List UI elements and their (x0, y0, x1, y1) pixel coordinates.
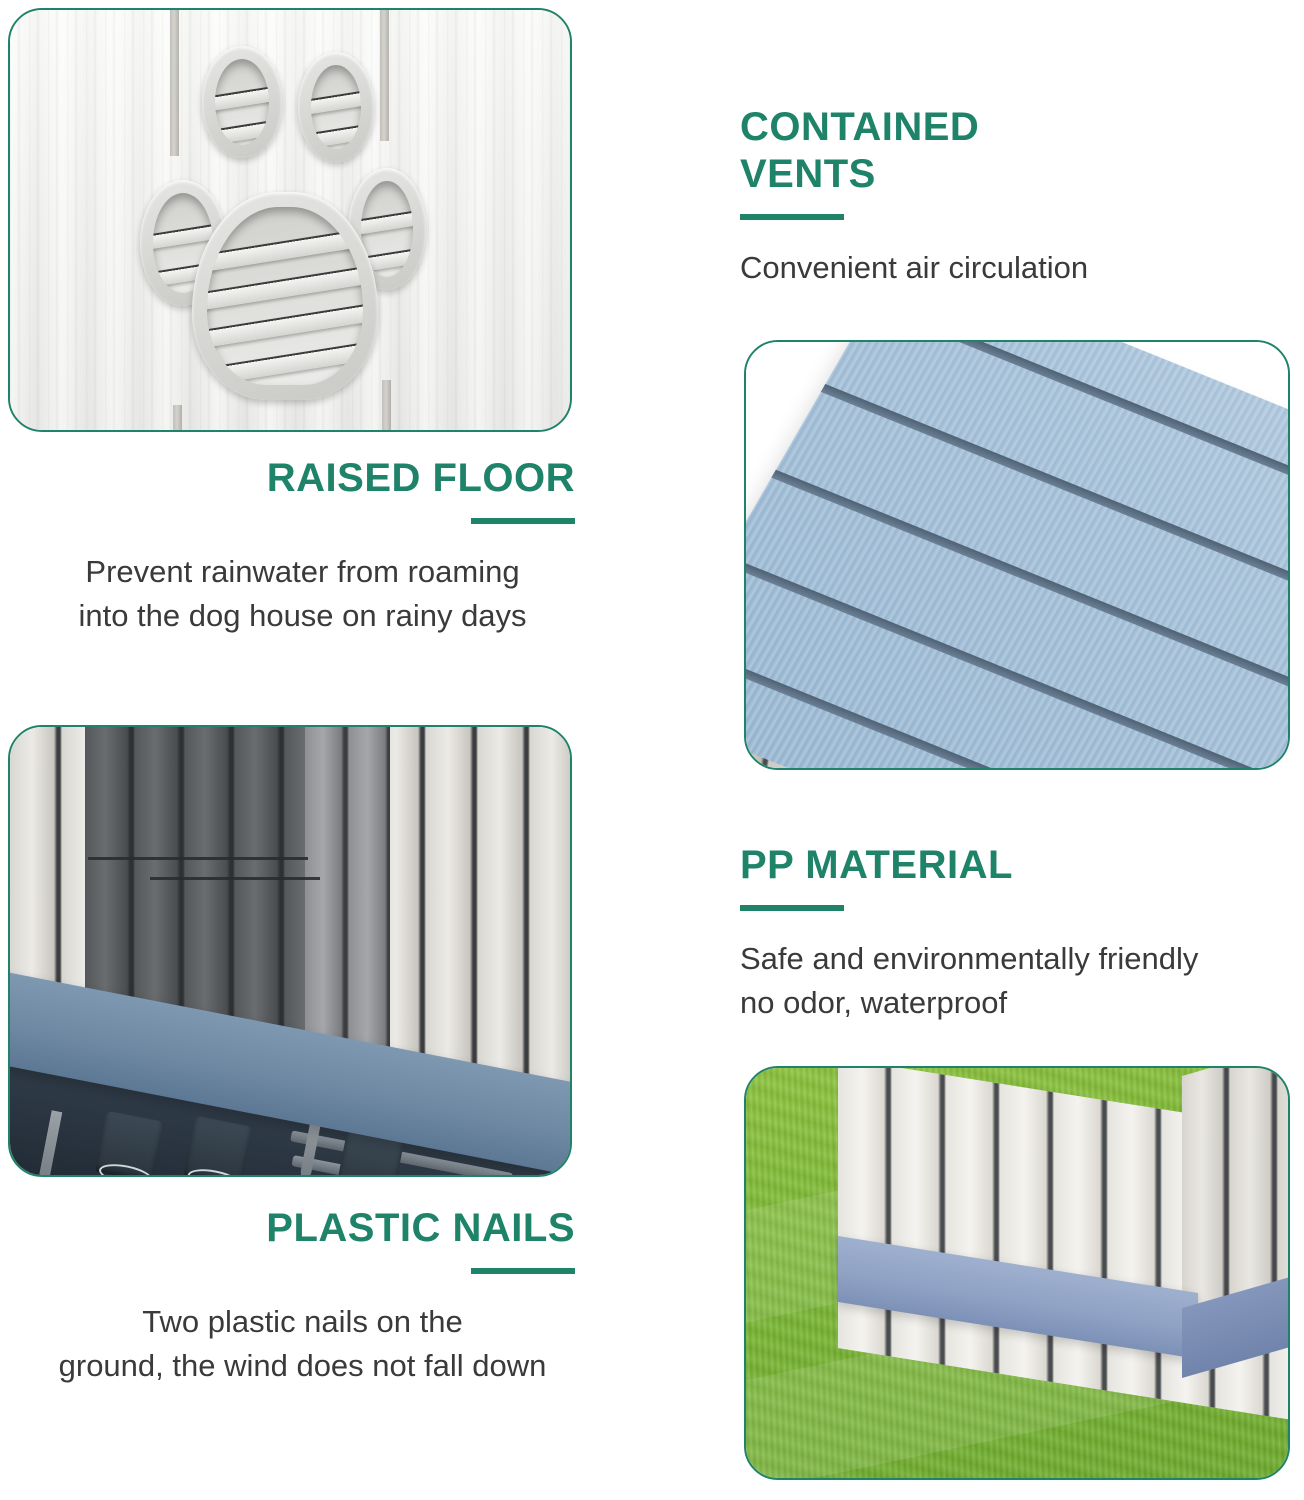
plastic-nails-heading: PLASTIC NAILS (30, 1205, 575, 1252)
raised-floor-description: Prevent rainwater from roaming into the … (30, 550, 575, 638)
pp-material-image-panel (744, 1066, 1290, 1480)
heading-underline (471, 1268, 575, 1274)
paw-toe-vent-icon (298, 52, 374, 162)
roof-scene (746, 342, 1288, 768)
plastic-nails-description: Two plastic nails on the ground, the win… (30, 1300, 575, 1388)
grass-scene (746, 1068, 1288, 1478)
plank-seam (88, 857, 308, 860)
raised-floor-heading: RAISED FLOOR (30, 455, 575, 502)
heading-underline (740, 905, 844, 911)
raised-floor-image-panel (744, 340, 1290, 770)
base-foot (95, 1111, 164, 1175)
siding-seam (170, 8, 179, 156)
plastic-nails-scene (10, 727, 570, 1175)
pp-material-text-block: PP MATERIAL Safe and environmentally fri… (740, 842, 1285, 1025)
contained-vents-heading: CONTAINED VENTS (740, 104, 1270, 198)
pp-material-description: Safe and environmentally friendly no odo… (740, 937, 1285, 1025)
contained-vents-description: Convenient air circulation (740, 246, 1270, 290)
base-foot (183, 1116, 252, 1175)
heading-underline (471, 518, 575, 524)
heading-underline (740, 214, 844, 220)
contained-vents-image-panel (8, 8, 572, 432)
plastic-nails-image-panel (8, 725, 572, 1177)
plastic-nail-spike (35, 1110, 62, 1175)
infographic-page: RAISED FLOOR Prevent rainwater from roam… (0, 0, 1304, 1500)
siding-seam (173, 405, 182, 432)
pp-material-heading: PP MATERIAL (740, 842, 1285, 889)
raised-floor-text-block: RAISED FLOOR Prevent rainwater from roam… (30, 455, 575, 638)
plank-seam (150, 877, 320, 880)
siding-seam (380, 8, 389, 141)
paw-toe-vent-icon (202, 46, 282, 158)
roof-planks (746, 342, 1288, 768)
contained-vents-text-block: CONTAINED VENTS Convenient air circulati… (740, 104, 1270, 290)
paw-heel-vent-icon (192, 192, 378, 400)
siding-seam (382, 380, 391, 432)
plastic-nails-text-block: PLASTIC NAILS Two plastic nails on the g… (30, 1205, 575, 1388)
